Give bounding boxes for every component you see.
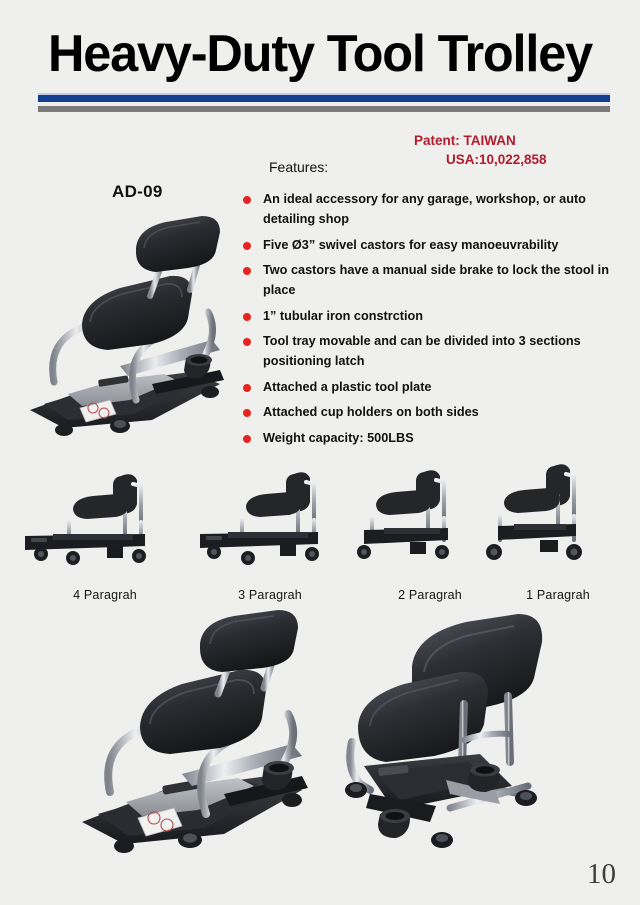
thumbnail-caption: 4 Paragrah [25,588,185,602]
feature-item: 1” tubular iron constrction [241,306,637,326]
large-product-photo-front [78,610,346,862]
feature-text: Two castors have a manual side brake to … [263,263,609,297]
feature-item: Tool tray movable and can be divided int… [241,331,637,371]
header-divider-gray [38,106,610,112]
page-title: Heavy-Duty Tool Trolley [10,24,631,84]
feature-text: An ideal accessory for any garage, works… [263,192,586,226]
feature-item: An ideal accessory for any garage, works… [241,189,637,229]
thumbnail-item[interactable]: 3 Paragrah [190,462,350,580]
patent-block: Patent: TAIWAN USA:10,022,858 [360,131,620,169]
patent-country-line: Patent: TAIWAN [360,131,620,150]
large-product-photo-rear [330,608,598,864]
feature-text: 1” tubular iron constrction [263,309,423,323]
features-heading: Features: [269,159,328,175]
page-number: 10 [587,858,616,891]
hero-product-photo [24,214,248,450]
model-number-label: AD-09 [112,182,163,202]
feature-item: Attached cup holders on both sides [241,402,637,422]
thumbnail-gallery: 4 Paragrah 3 Paragrah [0,462,640,612]
thumbnail-caption: 1 Paragrah [478,588,638,602]
feature-item: Weight capacity: 500LBS [241,428,637,448]
feature-text: Weight capacity: 500LBS [263,431,414,445]
feature-item: Five Ø3” swivel castors for easy manoeuv… [241,235,637,255]
thumbnail-item[interactable]: 1 Paragrah [478,462,638,580]
feature-text: Tool tray movable and can be divided int… [263,334,581,368]
feature-text: Five Ø3” swivel castors for easy manoeuv… [263,238,558,252]
header-divider-blue [38,93,610,102]
patent-number-line: USA:10,022,858 [360,150,620,169]
feature-text: Attached cup holders on both sides [263,405,479,419]
thumbnail-caption: 3 Paragrah [190,588,350,602]
features-list: An ideal accessory for any garage, works… [241,189,637,453]
feature-text: Attached a plastic tool plate [263,380,432,394]
feature-item: Attached a plastic tool plate [241,377,637,397]
feature-item: Two castors have a manual side brake to … [241,260,637,300]
bullet-dot-icon [243,196,251,204]
thumbnail-item[interactable]: 4 Paragrah [25,462,185,580]
